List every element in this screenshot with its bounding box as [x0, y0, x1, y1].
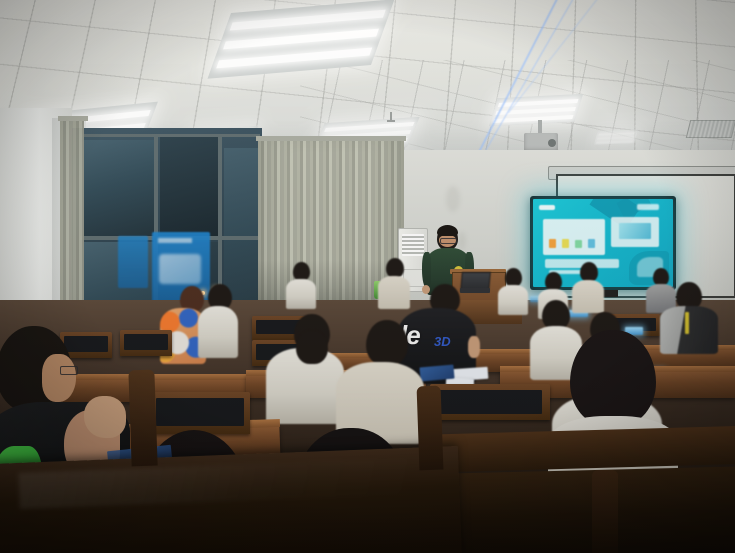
- wall-scuff-mark: [446, 186, 460, 212]
- attendee-white-left: [198, 284, 238, 356]
- window-pane-1: [84, 140, 154, 236]
- bench-backrest-post: [128, 370, 157, 467]
- window-pane-2: [160, 136, 218, 236]
- desk-reflection: [18, 458, 419, 509]
- window-frame-top: [80, 134, 260, 137]
- desk-foreground-right: [429, 466, 735, 553]
- presenter-head: [437, 226, 458, 250]
- classroom-photo: le 3D: [0, 0, 735, 553]
- bench-pad-row-2-a: [156, 398, 244, 426]
- presenter-laptop-base[interactable]: [460, 288, 490, 293]
- ceiling-hook-center: [390, 112, 392, 121]
- presenter-hand-left: [422, 285, 430, 294]
- bench-backrest-post-3: [592, 470, 618, 553]
- attendee-foreground-glasses: [60, 366, 78, 375]
- window-reflection-left: [118, 236, 148, 288]
- attendee-white-2: [336, 328, 424, 436]
- bench-pad-row-2-b: [436, 390, 542, 414]
- attendee-foreground-face: [42, 354, 76, 402]
- attendee-foreground-hand: [84, 396, 126, 438]
- attendee-back-3: [498, 268, 528, 314]
- presenter-arm-left: [422, 252, 431, 288]
- blue-folder-desk[interactable]: [419, 365, 454, 382]
- attendee-back-1: [286, 262, 316, 308]
- attendee-row1-small: [290, 330, 336, 380]
- presenter-glasses: [440, 238, 457, 244]
- projector-lens: [548, 139, 556, 147]
- desk-foreground: [0, 446, 462, 553]
- bench-backrest-post-2: [417, 386, 444, 471]
- ceiling-vent-right: [686, 120, 735, 138]
- ac-vent-grille: [402, 234, 424, 256]
- curtain-rail: [256, 136, 406, 141]
- tee-graphic-accent: 3D: [434, 334, 451, 349]
- curtain-rail-left: [58, 116, 88, 121]
